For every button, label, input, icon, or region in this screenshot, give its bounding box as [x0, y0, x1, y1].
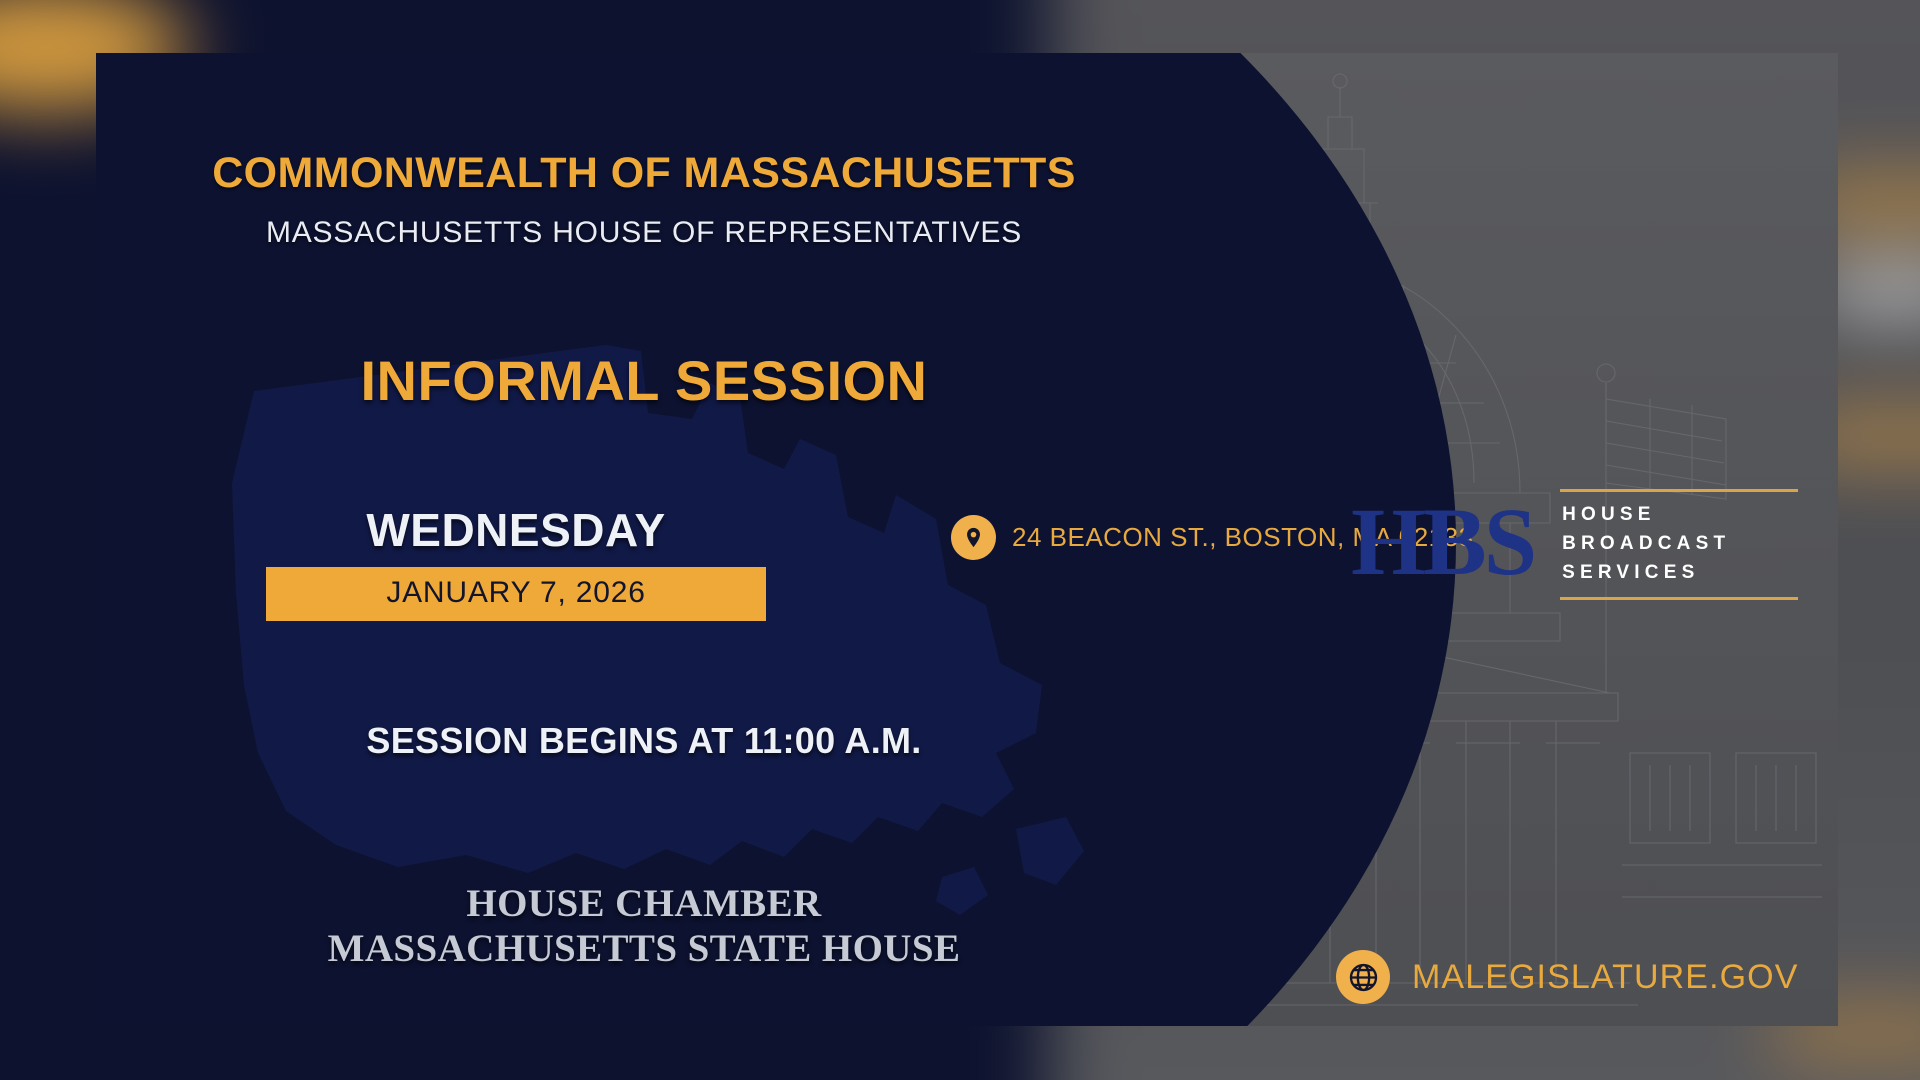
venue-block: HOUSE CHAMBER MASSACHUSETTS STATE HOUSE — [114, 881, 1174, 971]
hbs-words-stack: HOUSE BROADCAST SERVICES — [1560, 492, 1798, 597]
hbs-word-house: HOUSE — [1562, 501, 1798, 530]
hbs-wordmark: HOUSE BROADCAST SERVICES — [1560, 485, 1798, 600]
globe-icon — [1336, 950, 1390, 1004]
hbs-rule-bottom — [1560, 597, 1798, 600]
day-of-week: WEDNESDAY — [266, 503, 766, 557]
hbs-monogram: HBS — [1351, 498, 1534, 586]
date-banner: JANUARY 7, 2026 — [266, 567, 766, 621]
hbs-word-services: SERVICES — [1562, 559, 1798, 588]
date-block: WEDNESDAY JANUARY 7, 2026 — [266, 503, 766, 621]
chamber-subtitle: MASSACHUSETTS HOUSE OF REPRESENTATIVES — [114, 216, 1174, 250]
venue-building: MASSACHUSETTS STATE HOUSE — [114, 926, 1174, 971]
broadcast-slide-panel: COMMONWEALTH OF MASSACHUSETTS MASSACHUSE… — [96, 53, 1838, 1026]
hbs-word-broadcast: BROADCAST — [1562, 530, 1798, 559]
page-title: COMMONWEALTH OF MASSACHUSETTS — [114, 149, 1174, 198]
website-row[interactable]: MALEGISLATURE.GOV — [1336, 950, 1799, 1004]
session-start-time: SESSION BEGINS AT 11:00 A.M. — [114, 720, 1174, 762]
slide-text-content: COMMONWEALTH OF MASSACHUSETTS MASSACHUSE… — [96, 53, 1196, 1026]
session-type-heading: INFORMAL SESSION — [114, 348, 1174, 413]
slide-stage: COMMONWEALTH OF MASSACHUSETTS MASSACHUSE… — [0, 0, 1920, 1080]
venue-room: HOUSE CHAMBER — [114, 881, 1174, 926]
hbs-logo-lockup: HBS HOUSE BROADCAST SERVICES — [1351, 485, 1798, 600]
website-url[interactable]: MALEGISLATURE.GOV — [1412, 958, 1799, 997]
location-pin-icon — [951, 515, 996, 560]
